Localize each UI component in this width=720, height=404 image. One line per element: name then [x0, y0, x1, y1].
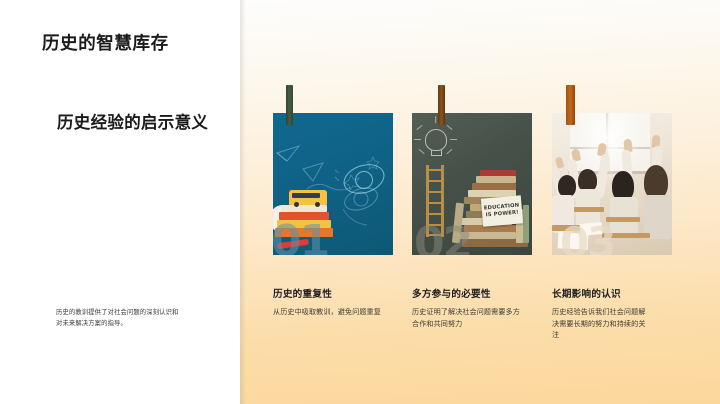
clip-pin-icon — [566, 85, 575, 125]
slide-canvas: 历史的智慧库存 历史经验的启示意义 历史的教训提供了对社会问题的深刻认识和对未来… — [0, 0, 720, 404]
education-sign: EDUCATION IS POWER! — [481, 195, 523, 226]
card-1-photo: 01 — [273, 113, 393, 255]
slide-subtitle: 历史经验的启示意义 — [57, 112, 217, 135]
card-3-caption: 长期影响的认识 历史经验告诉我们社会问题解决需要长期的努力和持续的关注 — [552, 286, 678, 342]
education-sign-text: EDUCATION IS POWER! — [481, 202, 522, 219]
card-1-caption: 历史的重复性 从历史中吸取教训，避免问题重复 — [273, 286, 399, 319]
school-bus-icon — [289, 190, 327, 205]
card-1-title: 历史的重复性 — [273, 286, 399, 300]
lightbulb-icon — [425, 129, 447, 151]
card-3-photo: 03 — [552, 113, 672, 255]
page-title: 历史的智慧库存 — [42, 30, 169, 55]
clip-pin-icon — [286, 85, 293, 125]
card-3-title: 长期影响的认识 — [552, 286, 678, 300]
card-3-number: 03 — [560, 218, 614, 255]
card-2-caption: 多方参与的必要性 历史证明了解决社会问题需要多方合作和共同努力 — [412, 286, 538, 330]
planet-doodle-icon — [355, 171, 373, 189]
card-3-body: 历史经验告诉我们社会问题解决需要长期的努力和持续的关注 — [552, 307, 648, 342]
left-panel: 历史的智慧库存 历史经验的启示意义 历史的教训提供了对社会问题的深刻认识和对未来… — [0, 0, 240, 404]
card-2-title: 多方参与的必要性 — [412, 286, 538, 300]
card-2-body: 历史证明了解决社会问题需要多方合作和共同努力 — [412, 307, 520, 330]
card-1-body: 从历史中吸取教训，避免问题重复 — [273, 307, 381, 319]
card-2-photo: EDUCATION IS POWER! 02 — [412, 113, 532, 255]
panel-divider — [240, 0, 246, 404]
card-3[interactable]: 03 — [552, 113, 672, 255]
lead-paragraph: 历史的教训提供了对社会问题的深刻认识和对未来解决方案的指导。 — [56, 307, 181, 329]
clip-pin-icon — [438, 85, 445, 125]
card-2-number: 02 — [414, 218, 471, 255]
card-1-number: 01 — [273, 216, 328, 255]
card-2[interactable]: EDUCATION IS POWER! 02 — [412, 113, 532, 255]
card-1[interactable]: 01 — [273, 113, 393, 255]
